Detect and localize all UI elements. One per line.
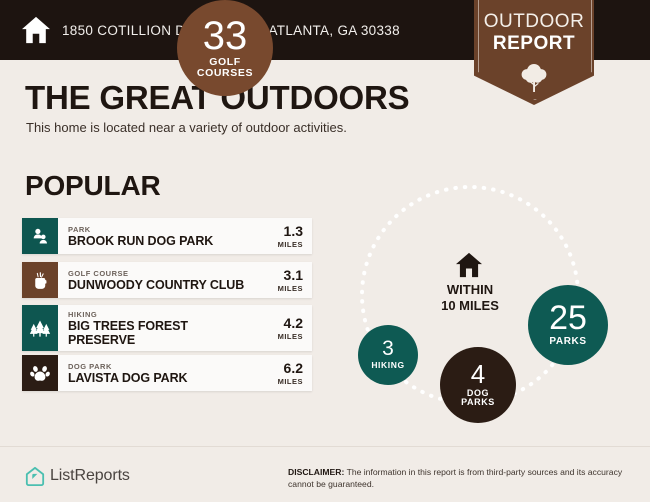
list-item-distance-unit: MILES (278, 377, 303, 386)
list-item-distance: 3.1MILES (259, 262, 312, 298)
bubble-label: PARKS (549, 337, 586, 348)
badge-line-1: OUTDOOR (474, 11, 594, 33)
tree-icon (517, 60, 551, 94)
list-item-distance-unit: MILES (278, 240, 303, 249)
bubble-dog: 4DOGPARKS (440, 347, 516, 423)
golf-bag-icon (22, 262, 58, 298)
bubble-parks: 25PARKS (528, 285, 608, 365)
list-item-distance-value: 1.3 (284, 224, 303, 238)
within-word: WITHIN (447, 282, 493, 297)
list-item-category: HIKING (68, 310, 257, 319)
list-item-category: PARK (68, 225, 257, 234)
list-item-name: BROOK RUN DOG PARK (68, 234, 257, 248)
center-home-icon (455, 252, 483, 278)
list-item-name: LAVISTA DOG PARK (68, 371, 257, 385)
disclaimer: DISCLAIMER: The information in this repo… (288, 466, 636, 491)
bubble-label: GOLFCOURSES (197, 57, 253, 80)
page-subtitle: This home is located near a variety of o… (26, 120, 347, 135)
list-item-distance-unit: MILES (278, 284, 303, 293)
list-item-category: DOG PARK (68, 362, 257, 371)
park-icon (22, 218, 58, 254)
listreports-wordmark: ListReports (50, 467, 130, 485)
footer-divider (0, 446, 650, 447)
list-item-distance: 4.2MILES (259, 305, 312, 351)
list-item-distance-value: 6.2 (284, 361, 303, 375)
outdoor-report-page: 1850 COTILLION DRIVE #4307, ATLANTA, GA … (0, 0, 650, 502)
list-item[interactable]: DOG PARKLAVISTA DOG PARK6.2MILES (22, 355, 312, 391)
disclaimer-label: DISCLAIMER: (288, 467, 344, 477)
list-item-distance: 6.2MILES (259, 355, 312, 391)
list-item-text: HIKINGBIG TREES FOREST PRESERVE (58, 305, 259, 351)
list-item-distance: 1.3MILES (259, 218, 312, 254)
within-distance: 10 MILES (441, 298, 499, 313)
bubble-hiking: 3HIKING (358, 325, 418, 385)
home-icon (21, 16, 51, 44)
list-item-distance-value: 4.2 (284, 316, 303, 330)
popular-heading: POPULAR (25, 170, 161, 202)
paw-print-icon (22, 355, 58, 391)
list-item[interactable]: PARKBROOK RUN DOG PARK1.3MILES (22, 218, 312, 254)
list-item-text: GOLF COURSEDUNWOODY COUNTRY CLUB (58, 262, 259, 298)
list-item-name: BIG TREES FOREST PRESERVE (68, 319, 257, 347)
house-logo-icon (25, 466, 45, 487)
list-item-category: GOLF COURSE (68, 269, 257, 278)
bubble-label: HIKING (371, 361, 404, 370)
bubble-golf: 33GOLFCOURSES (177, 0, 273, 96)
list-item[interactable]: GOLF COURSEDUNWOODY COUNTRY CLUB3.1MILES (22, 262, 312, 298)
bubble-value: 25 (549, 302, 587, 334)
trees-icon (22, 305, 58, 351)
list-item-distance-unit: MILES (278, 332, 303, 341)
list-item-text: PARKBROOK RUN DOG PARK (58, 218, 259, 254)
within-radius-label: WITHIN 10 MILES (405, 282, 535, 315)
list-item-text: DOG PARKLAVISTA DOG PARK (58, 355, 259, 391)
bubble-value: 3 (382, 339, 394, 359)
list-item-distance-value: 3.1 (284, 268, 303, 282)
bubble-value: 33 (203, 17, 248, 55)
list-item[interactable]: HIKINGBIG TREES FOREST PRESERVE4.2MILES (22, 305, 312, 351)
bubble-value: 4 (471, 362, 485, 387)
badge-line-2: REPORT (474, 33, 594, 55)
list-item-name: DUNWOODY COUNTRY CLUB (68, 278, 257, 292)
bubble-label: DOGPARKS (461, 389, 495, 408)
